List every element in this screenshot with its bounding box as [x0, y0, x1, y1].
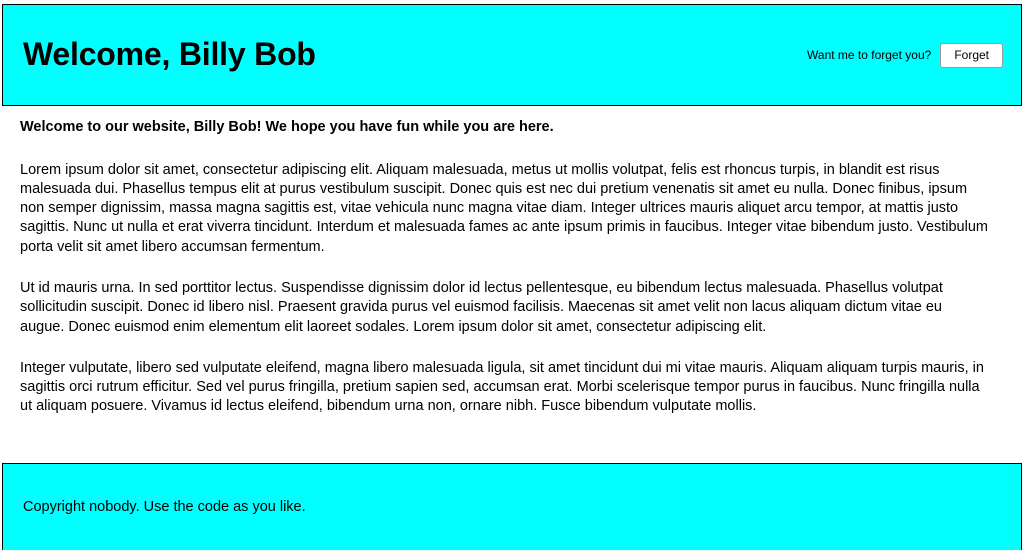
body-paragraph-2: Ut id mauris urna. In sed porttitor lect… — [20, 279, 988, 337]
forget-prompt-label: Want me to forget you? — [807, 49, 931, 61]
page-root: Welcome, Billy Bob Want me to forget you… — [0, 0, 1024, 550]
site-header: Welcome, Billy Bob Want me to forget you… — [2, 4, 1022, 106]
footer-copyright-text: Copyright nobody. Use the code as you li… — [23, 498, 306, 517]
forget-area: Want me to forget you? Forget — [807, 43, 1007, 68]
body-paragraph-3: Integer vulputate, libero sed vulputate … — [20, 359, 988, 417]
welcome-intro-text: Welcome to our website, Billy Bob! We ho… — [20, 118, 988, 138]
body-paragraph-1: Lorem ipsum dolor sit amet, consectetur … — [20, 161, 988, 257]
forget-button[interactable]: Forget — [940, 43, 1003, 68]
site-footer: Copyright nobody. Use the code as you li… — [2, 463, 1022, 550]
page-title: Welcome, Billy Bob — [23, 37, 316, 72]
main-content: Welcome to our website, Billy Bob! We ho… — [0, 118, 1024, 417]
